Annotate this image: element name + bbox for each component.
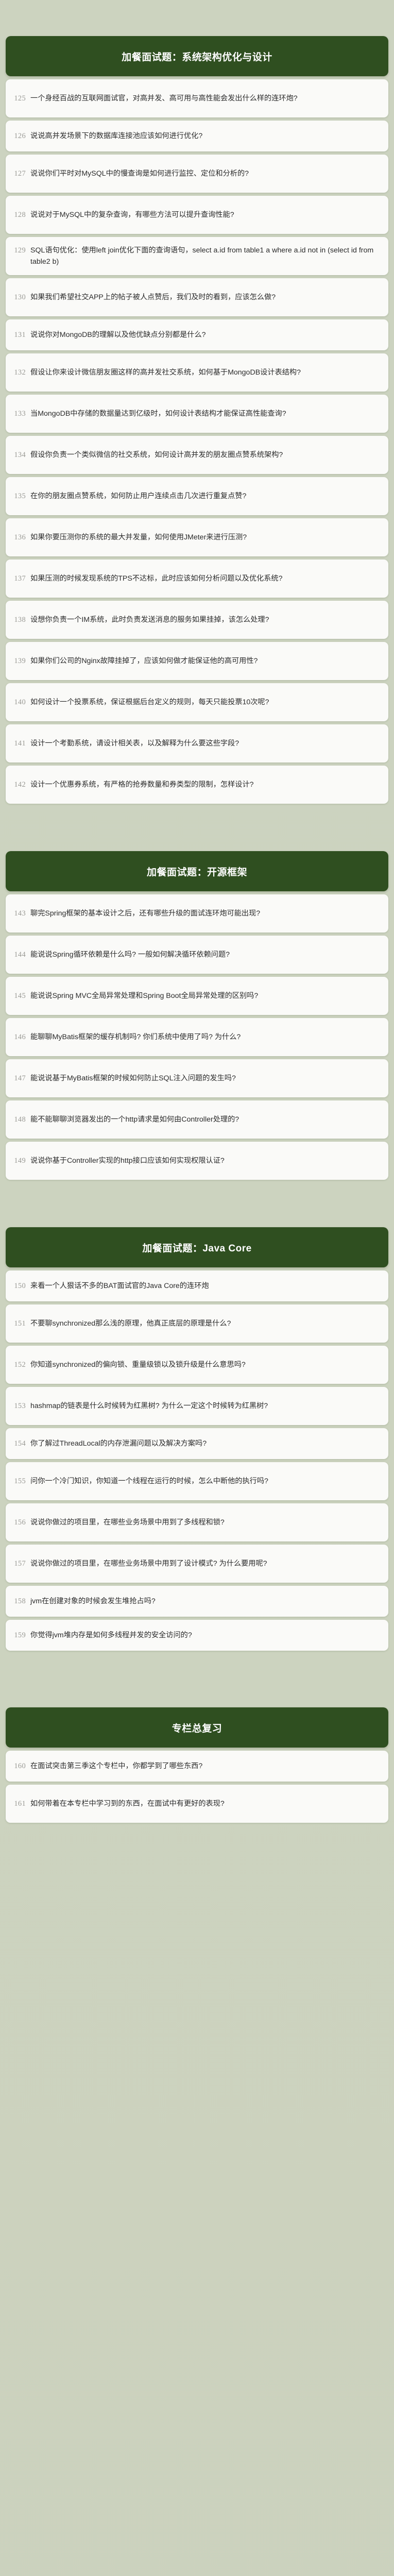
- question-number: 130: [13, 292, 30, 303]
- question-number: 148: [13, 1114, 30, 1125]
- section-title: 加餐面试题：Java Core: [142, 1241, 251, 1255]
- question-card[interactable]: 134假设你负责一个类似微信的社交系统，如何设计高并发的朋友圈点赞系统架构?: [6, 436, 388, 474]
- question-number: 152: [13, 1359, 30, 1370]
- question-number: 160: [13, 1760, 30, 1772]
- question-card-inner: 127说说你们平时对MySQL中的慢查询是如何进行监控、定位和分析的?: [13, 168, 375, 179]
- question-number: 142: [13, 779, 30, 790]
- question-card[interactable]: 136如果你要压测你的系统的最大并发量，如何使用JMeter来进行压测?: [6, 518, 388, 556]
- question-card[interactable]: 159你觉得jvm堆内存是如何多线程并发的安全访问的?: [6, 1620, 388, 1651]
- question-text: 你知道synchronized的偏向锁、重量级锁以及锁升级是什么意思吗?: [30, 1359, 375, 1370]
- question-text: 能说说Spring循环依赖是什么吗? 一般如何解决循环依赖问题?: [30, 949, 375, 960]
- question-card[interactable]: 138设想你负责一个IM系统，此时负责发送消息的服务如果挂掉，该怎么处理?: [6, 601, 388, 639]
- question-card[interactable]: 125一个身经百战的互联网面试官，对高并发、高可用与高性能会发出什么样的连环炮?: [6, 79, 388, 117]
- question-text: 说说你做过的项目里，在哪些业务场景中用到了多线程和锁?: [30, 1517, 375, 1528]
- question-text: 设想你负责一个IM系统，此时负责发送消息的服务如果挂掉，该怎么处理?: [30, 614, 375, 625]
- section-spacer: [6, 1180, 388, 1227]
- question-card-inner: 156说说你做过的项目里，在哪些业务场景中用到了多线程和锁?: [13, 1517, 375, 1528]
- question-text: 如何设计一个投票系统，保证根据后台定义的规则，每天只能投票10次呢?: [30, 697, 375, 708]
- question-card[interactable]: 146能聊聊MyBatis框架的缓存机制吗? 你们系统中使用了吗? 为什么?: [6, 1018, 388, 1056]
- question-card[interactable]: 147能说说基于MyBatis框架的时候如何防止SQL注入问题的发生吗?: [6, 1059, 388, 1097]
- question-card[interactable]: 144能说说Spring循环依赖是什么吗? 一般如何解决循环依赖问题?: [6, 936, 388, 974]
- question-number: 144: [13, 949, 30, 960]
- question-number: 149: [13, 1155, 30, 1166]
- question-number: 141: [13, 738, 30, 749]
- question-card-inner: 128说说对于MySQL中的复杂查询，有哪些方法可以提升查询性能?: [13, 209, 375, 221]
- sections-container: 加餐面试题：系统架构优化与设计125一个身经百战的互联网面试官，对高并发、高可用…: [6, 36, 388, 1823]
- question-card[interactable]: 139如果你们公司的Nginx故障挂掉了，应该如何做才能保证他的高可用性?: [6, 642, 388, 680]
- question-number: 140: [13, 697, 30, 708]
- question-text: 如何带着在本专栏中学习到的东西，在面试中有更好的表现?: [30, 1798, 375, 1809]
- question-card-inner: 146能聊聊MyBatis框架的缓存机制吗? 你们系统中使用了吗? 为什么?: [13, 1031, 375, 1043]
- question-number: 125: [13, 93, 30, 104]
- question-card-inner: 126说说高并发场景下的数据库连接池应该如何进行优化?: [13, 130, 375, 142]
- question-text: 如果你要压测你的系统的最大并发量，如何使用JMeter来进行压测?: [30, 532, 375, 543]
- section-header-2: 加餐面试题：开源框架: [6, 851, 388, 891]
- question-number: 158: [13, 1596, 30, 1607]
- question-card-inner: 125一个身经百战的互联网面试官，对高并发、高可用与高性能会发出什么样的连环炮?: [13, 93, 375, 104]
- question-card[interactable]: 157说说你做过的项目里，在哪些业务场景中用到了设计模式? 为什么要用呢?: [6, 1545, 388, 1583]
- question-card-inner: 133当MongoDB中存储的数据量达到亿级时，如何设计表结构才能保证高性能查询…: [13, 408, 375, 419]
- question-card[interactable]: 145能说说Spring MVC全局异常处理和Spring Boot全局异常处理…: [6, 977, 388, 1015]
- question-card[interactable]: 133当MongoDB中存储的数据量达到亿级时，如何设计表结构才能保证高性能查询…: [6, 395, 388, 433]
- question-text: 设计一个考勤系统，请设计相关表，以及解释为什么要这些字段?: [30, 738, 375, 749]
- question-card-inner: 137如果压测的时候发现系统的TPS不达标，此时应该如何分析问题以及优化系统?: [13, 573, 375, 584]
- question-text: 说说你基于Controller实现的http接口应该如何实现权限认证?: [30, 1155, 375, 1166]
- question-number: 157: [13, 1558, 30, 1569]
- question-card-inner: 140如何设计一个投票系统，保证根据后台定义的规则，每天只能投票10次呢?: [13, 697, 375, 708]
- question-card[interactable]: 149说说你基于Controller实现的http接口应该如何实现权限认证?: [6, 1142, 388, 1180]
- question-text: 来看一个人狠话不多的BAT面试官的Java Core的连环炮: [30, 1280, 375, 1292]
- question-card-inner: 158jvm在创建对象的时候会发生堆抢占吗?: [13, 1596, 375, 1607]
- question-card-inner: 142设计一个优惠券系统，有严格的抢券数量和券类型的限制，怎样设计?: [13, 779, 375, 790]
- question-text: 能说说Spring MVC全局异常处理和Spring Boot全局异常处理的区别…: [30, 990, 375, 1002]
- question-text: 如果压测的时候发现系统的TPS不达标，此时应该如何分析问题以及优化系统?: [30, 573, 375, 584]
- question-card-inner: 149说说你基于Controller实现的http接口应该如何实现权限认证?: [13, 1155, 375, 1166]
- question-number: 150: [13, 1280, 30, 1292]
- question-card[interactable]: 126说说高并发场景下的数据库连接池应该如何进行优化?: [6, 121, 388, 151]
- question-number: 137: [13, 573, 30, 584]
- question-card-inner: 135在你的朋友圈点赞系统，如何防止用户连续点击几次进行重复点赞?: [13, 490, 375, 502]
- question-card-inner: 150来看一个人狠话不多的BAT面试官的Java Core的连环炮: [13, 1280, 375, 1292]
- question-card-inner: 139如果你们公司的Nginx故障挂掉了，应该如何做才能保证他的高可用性?: [13, 655, 375, 667]
- section-header-1: 加餐面试题：系统架构优化与设计: [6, 36, 388, 76]
- question-card-inner: 143聊完Spring框架的基本设计之后，还有哪些升级的面试连环炮可能出现?: [13, 908, 375, 919]
- section-title: 专栏总复习: [172, 1721, 222, 1735]
- question-number: 145: [13, 990, 30, 1002]
- question-number: 129: [13, 245, 30, 256]
- question-text: 说说你们平时对MySQL中的慢查询是如何进行监控、定位和分析的?: [30, 168, 375, 179]
- question-card-inner: 145能说说Spring MVC全局异常处理和Spring Boot全局异常处理…: [13, 990, 375, 1002]
- question-card[interactable]: 137如果压测的时候发现系统的TPS不达标，此时应该如何分析问题以及优化系统?: [6, 560, 388, 598]
- question-card[interactable]: 161如何带着在本专栏中学习到的东西，在面试中有更好的表现?: [6, 1785, 388, 1823]
- question-text: 说说对于MySQL中的复杂查询，有哪些方法可以提升查询性能?: [30, 209, 375, 221]
- question-card[interactable]: 127说说你们平时对MySQL中的慢查询是如何进行监控、定位和分析的?: [6, 155, 388, 193]
- question-number: 131: [13, 329, 30, 341]
- question-number: 126: [13, 130, 30, 142]
- question-number: 127: [13, 168, 30, 179]
- section-title: 加餐面试题：开源框架: [147, 865, 247, 878]
- question-number: 153: [13, 1400, 30, 1412]
- question-text: 能不能聊聊浏览器发出的一个http请求是如何由Controller处理的?: [30, 1114, 375, 1125]
- question-text: 设计一个优惠券系统，有严格的抢券数量和券类型的限制，怎样设计?: [30, 779, 375, 790]
- question-text: 能说说基于MyBatis框架的时候如何防止SQL注入问题的发生吗?: [30, 1073, 375, 1084]
- question-card[interactable]: 150来看一个人狠话不多的BAT面试官的Java Core的连环炮: [6, 1270, 388, 1301]
- question-card[interactable]: 142设计一个优惠券系统，有严格的抢券数量和券类型的限制，怎样设计?: [6, 766, 388, 804]
- question-number: 143: [13, 908, 30, 919]
- question-number: 159: [13, 1630, 30, 1641]
- question-card-inner: 148能不能聊聊浏览器发出的一个http请求是如何由Controller处理的?: [13, 1114, 375, 1125]
- question-number: 132: [13, 367, 30, 378]
- question-card-inner: 153hashmap的链表是什么时候转为红黑树? 为什么一定这个时候转为红黑树?: [13, 1400, 375, 1412]
- question-card[interactable]: 132假设让你来设计微信朋友圈这样的高并发社交系统，如何基于MongoDB设计表…: [6, 353, 388, 392]
- question-text: 在面试突击第三季这个专栏中，你都学到了哪些东西?: [30, 1760, 375, 1772]
- question-number: 146: [13, 1031, 30, 1043]
- question-card[interactable]: 129SQL语句优化：使用left join优化下面的查询语句，select a…: [6, 237, 388, 275]
- question-text: 说说你做过的项目里，在哪些业务场景中用到了设计模式? 为什么要用呢?: [30, 1558, 375, 1569]
- question-number: 138: [13, 614, 30, 625]
- question-text: 当MongoDB中存储的数据量达到亿级时，如何设计表结构才能保证高性能查询?: [30, 408, 375, 419]
- question-card-inner: 131说说你对MongoDB的理解以及他优缺点分别都是什么?: [13, 329, 375, 341]
- question-text: 如果我们希望社交APP上的帖子被人点赞后，我们及时的看到，应该怎么做?: [30, 292, 375, 303]
- question-number: 156: [13, 1517, 30, 1528]
- question-number: 147: [13, 1073, 30, 1084]
- question-text: 假设让你来设计微信朋友圈这样的高并发社交系统，如何基于MongoDB设计表结构?: [30, 367, 375, 378]
- question-text: 能聊聊MyBatis框架的缓存机制吗? 你们系统中使用了吗? 为什么?: [30, 1031, 375, 1043]
- question-card-inner: 152你知道synchronized的偏向锁、重量级锁以及锁升级是什么意思吗?: [13, 1359, 375, 1370]
- question-number: 128: [13, 209, 30, 221]
- question-number: 151: [13, 1318, 30, 1329]
- question-text: jvm在创建对象的时候会发生堆抢占吗?: [30, 1596, 375, 1607]
- question-number: 135: [13, 490, 30, 502]
- question-text: 一个身经百战的互联网面试官，对高并发、高可用与高性能会发出什么样的连环炮?: [30, 93, 375, 104]
- question-number: 161: [13, 1798, 30, 1809]
- question-text: 说说你对MongoDB的理解以及他优缺点分别都是什么?: [30, 329, 375, 341]
- question-card[interactable]: 160在面试突击第三季这个专栏中，你都学到了哪些东西?: [6, 1751, 388, 1782]
- question-card[interactable]: 153hashmap的链表是什么时候转为红黑树? 为什么一定这个时候转为红黑树?: [6, 1387, 388, 1425]
- question-card[interactable]: 143聊完Spring框架的基本设计之后，还有哪些升级的面试连环炮可能出现?: [6, 894, 388, 933]
- question-card[interactable]: 148能不能聊聊浏览器发出的一个http请求是如何由Controller处理的?: [6, 1100, 388, 1139]
- question-card-inner: 159你觉得jvm堆内存是如何多线程并发的安全访问的?: [13, 1630, 375, 1641]
- question-card-inner: 136如果你要压测你的系统的最大并发量，如何使用JMeter来进行压测?: [13, 532, 375, 543]
- question-card[interactable]: 131说说你对MongoDB的理解以及他优缺点分别都是什么?: [6, 319, 388, 350]
- section-header-3: 加餐面试题：Java Core: [6, 1227, 388, 1267]
- question-text: 说说高并发场景下的数据库连接池应该如何进行优化?: [30, 130, 375, 142]
- question-card-inner: 144能说说Spring循环依赖是什么吗? 一般如何解决循环依赖问题?: [13, 949, 375, 960]
- question-card-inner: 155问你一个冷门知识，你知道一个线程在运行的时候，怎么中断他的执行吗?: [13, 1476, 375, 1487]
- question-number: 134: [13, 449, 30, 461]
- question-card[interactable]: 151不要聊synchronized那么浅的原理，他真正底层的原理是什么?: [6, 1304, 388, 1343]
- question-text: 问你一个冷门知识，你知道一个线程在运行的时候，怎么中断他的执行吗?: [30, 1476, 375, 1487]
- question-text: 假设你负责一个类似微信的社交系统，如何设计高并发的朋友圈点赞系统架构?: [30, 449, 375, 461]
- question-card[interactable]: 156说说你做过的项目里，在哪些业务场景中用到了多线程和锁?: [6, 1503, 388, 1541]
- question-text: SQL语句优化：使用left join优化下面的查询语句，select a.id…: [30, 245, 375, 267]
- question-text: 聊完Spring框架的基本设计之后，还有哪些升级的面试连环炮可能出现?: [30, 908, 375, 919]
- question-number: 133: [13, 408, 30, 419]
- question-card[interactable]: 152你知道synchronized的偏向锁、重量级锁以及锁升级是什么意思吗?: [6, 1346, 388, 1384]
- question-card-inner: 129SQL语句优化：使用left join优化下面的查询语句，select a…: [13, 245, 375, 267]
- section-spacer: [6, 804, 388, 851]
- question-card[interactable]: 128说说对于MySQL中的复杂查询，有哪些方法可以提升查询性能?: [6, 196, 388, 234]
- question-card[interactable]: 155问你一个冷门知识，你知道一个线程在运行的时候，怎么中断他的执行吗?: [6, 1462, 388, 1500]
- question-card-inner: 138设想你负责一个IM系统，此时负责发送消息的服务如果挂掉，该怎么处理?: [13, 614, 375, 625]
- section-title: 加餐面试题：系统架构优化与设计: [122, 49, 272, 63]
- question-text: 在你的朋友圈点赞系统，如何防止用户连续点击几次进行重复点赞?: [30, 490, 375, 502]
- question-card[interactable]: 140如何设计一个投票系统，保证根据后台定义的规则，每天只能投票10次呢?: [6, 683, 388, 721]
- interview-question-list-page: 加餐面试题：系统架构优化与设计125一个身经百战的互联网面试官，对高并发、高可用…: [0, 36, 394, 1823]
- question-number: 136: [13, 532, 30, 543]
- question-card[interactable]: 135在你的朋友圈点赞系统，如何防止用户连续点击几次进行重复点赞?: [6, 477, 388, 515]
- section-header-4: 专栏总复习: [6, 1707, 388, 1748]
- question-card-inner: 134假设你负责一个类似微信的社交系统，如何设计高并发的朋友圈点赞系统架构?: [13, 449, 375, 461]
- question-card-inner: 141设计一个考勤系统，请设计相关表，以及解释为什么要这些字段?: [13, 738, 375, 749]
- question-text: 如果你们公司的Nginx故障挂掉了，应该如何做才能保证他的高可用性?: [30, 655, 375, 667]
- question-number: 155: [13, 1476, 30, 1487]
- question-card[interactable]: 158jvm在创建对象的时候会发生堆抢占吗?: [6, 1586, 388, 1617]
- question-card[interactable]: 154你了解过ThreadLocal的内存泄漏问题以及解决方案吗?: [6, 1428, 388, 1459]
- question-number: 154: [13, 1438, 30, 1449]
- question-card[interactable]: 130如果我们希望社交APP上的帖子被人点赞后，我们及时的看到，应该怎么做?: [6, 278, 388, 316]
- question-card-inner: 130如果我们希望社交APP上的帖子被人点赞后，我们及时的看到，应该怎么做?: [13, 292, 375, 303]
- question-card-inner: 161如何带着在本专栏中学习到的东西，在面试中有更好的表现?: [13, 1798, 375, 1809]
- question-card-inner: 157说说你做过的项目里，在哪些业务场景中用到了设计模式? 为什么要用呢?: [13, 1558, 375, 1569]
- question-card-inner: 132假设让你来设计微信朋友圈这样的高并发社交系统，如何基于MongoDB设计表…: [13, 367, 375, 378]
- question-card-inner: 147能说说基于MyBatis框架的时候如何防止SQL注入问题的发生吗?: [13, 1073, 375, 1084]
- question-text: 你了解过ThreadLocal的内存泄漏问题以及解决方案吗?: [30, 1438, 375, 1449]
- question-card-inner: 151不要聊synchronized那么浅的原理，他真正底层的原理是什么?: [13, 1318, 375, 1329]
- question-text: hashmap的链表是什么时候转为红黑树? 为什么一定这个时候转为红黑树?: [30, 1400, 375, 1412]
- section-spacer: [6, 1651, 388, 1707]
- question-card-inner: 160在面试突击第三季这个专栏中，你都学到了哪些东西?: [13, 1760, 375, 1772]
- question-card[interactable]: 141设计一个考勤系统，请设计相关表，以及解释为什么要这些字段?: [6, 724, 388, 762]
- question-text: 你觉得jvm堆内存是如何多线程并发的安全访问的?: [30, 1630, 375, 1641]
- question-card-inner: 154你了解过ThreadLocal的内存泄漏问题以及解决方案吗?: [13, 1438, 375, 1449]
- question-number: 139: [13, 655, 30, 667]
- question-text: 不要聊synchronized那么浅的原理，他真正底层的原理是什么?: [30, 1318, 375, 1329]
